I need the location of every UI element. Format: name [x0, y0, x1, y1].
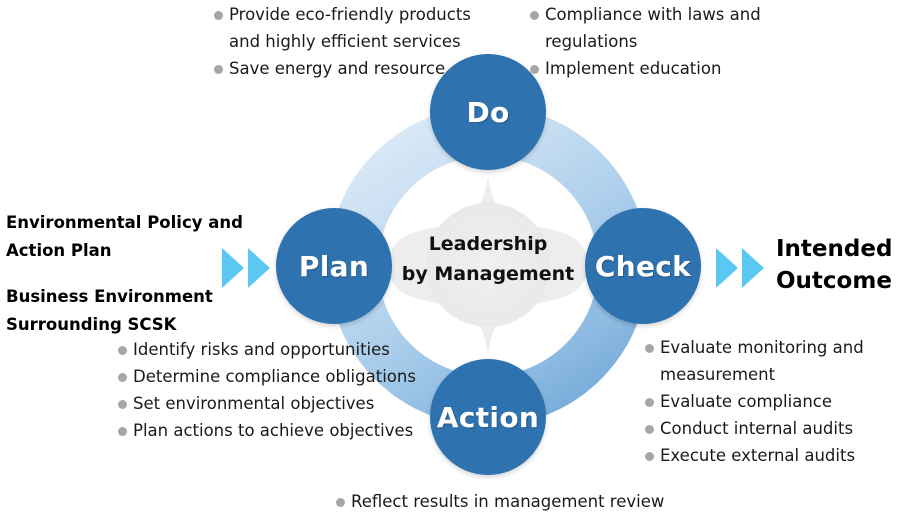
- list-item-label: Determine compliance obligations: [133, 367, 416, 386]
- pdca-diagram-canvas: Leadership by Management Do Check Action…: [0, 0, 897, 528]
- list-compliance-items: Compliance with laws andregulationsImple…: [530, 1, 761, 82]
- output-label-intended-outcome: Intended Outcome: [776, 233, 892, 297]
- list-do-activities: Provide eco-friendly productsand highly …: [214, 1, 471, 82]
- left-label-line3: Business Environment: [6, 283, 243, 311]
- list-item-label: Execute external audits: [660, 446, 855, 465]
- triangle-right-icon: [742, 248, 764, 288]
- bullet-dot-icon: [645, 398, 654, 407]
- right-label-line1: Intended: [776, 236, 892, 262]
- list-item-label: Plan actions to achieve objectives: [133, 421, 413, 440]
- list-item: Evaluate monitoring and: [645, 334, 864, 361]
- bullet-dot-icon: [336, 498, 345, 507]
- list-item: regulations: [530, 28, 761, 55]
- list-item-label: Identify risks and opportunities: [133, 340, 390, 359]
- list-item-label: measurement: [660, 365, 775, 384]
- list-item: Identify risks and opportunities: [118, 336, 416, 363]
- center-label-line2: by Management: [388, 259, 588, 289]
- bullet-dot-icon: [118, 346, 127, 355]
- bullet-dot-icon: [530, 11, 539, 20]
- list-item: Provide eco-friendly products: [214, 1, 471, 28]
- list-item: Plan actions to achieve objectives: [118, 417, 416, 444]
- node-plan[interactable]: Plan: [276, 208, 392, 324]
- list-item: Execute external audits: [645, 442, 864, 469]
- bullet-dot-icon: [645, 344, 654, 353]
- list-item: Evaluate compliance: [645, 388, 864, 415]
- node-do-label: Do: [466, 96, 509, 129]
- list-check-activities: Evaluate monitoring andmeasurementEvalua…: [645, 334, 864, 469]
- list-item: Determine compliance obligations: [118, 363, 416, 390]
- list-item: and highly efficient services: [214, 28, 471, 55]
- triangle-right-icon: [222, 248, 244, 288]
- list-plan-activities: Identify risks and opportunitiesDetermin…: [118, 336, 416, 444]
- list-item: Compliance with laws and: [530, 1, 761, 28]
- list-item-label: Evaluate compliance: [660, 392, 832, 411]
- list-item-label: and highly efficient services: [229, 32, 461, 51]
- right-label-line2: Outcome: [776, 268, 892, 294]
- node-action-label: Action: [437, 401, 539, 434]
- list-item: Set environmental objectives: [118, 390, 416, 417]
- bullet-dot-icon: [214, 11, 223, 20]
- center-leadership-label: Leadership by Management: [388, 229, 588, 289]
- list-action-activities: Reflect results in management review: [336, 488, 664, 515]
- bullet-dot-icon: [645, 452, 654, 461]
- node-check[interactable]: Check: [585, 208, 701, 324]
- list-item: Reflect results in management review: [336, 488, 664, 515]
- list-item-label: Provide eco-friendly products: [229, 5, 471, 24]
- list-item: measurement: [645, 361, 864, 388]
- list-item-label: Conduct internal audits: [660, 419, 853, 438]
- list-item-label: Evaluate monitoring and: [660, 338, 864, 357]
- left-label-line4: Surrounding SCSK: [6, 315, 176, 334]
- node-check-label: Check: [595, 250, 691, 283]
- center-label-line1: Leadership: [388, 229, 588, 259]
- node-action[interactable]: Action: [430, 359, 546, 475]
- list-item-label: regulations: [545, 32, 637, 51]
- list-item-label: Implement education: [545, 59, 721, 78]
- list-item: Implement education: [530, 55, 761, 82]
- bullet-dot-icon: [645, 425, 654, 434]
- list-item-label: Compliance with laws and: [545, 5, 761, 24]
- list-item-label: Set environmental objectives: [133, 394, 374, 413]
- bullet-dot-icon: [118, 427, 127, 436]
- input-label-environmental-policy: Environmental Policy and Action Plan Bus…: [6, 209, 243, 339]
- left-label-line1: Environmental Policy and: [6, 213, 243, 232]
- arrow-right-outflow: [716, 248, 764, 288]
- list-item-label: Save energy and resource: [229, 59, 445, 78]
- node-plan-label: Plan: [299, 250, 369, 283]
- list-item: Conduct internal audits: [645, 415, 864, 442]
- list-item-label: Reflect results in management review: [351, 492, 664, 511]
- bullet-dot-icon: [118, 373, 127, 382]
- bullet-dot-icon: [118, 400, 127, 409]
- bullet-dot-icon: [530, 65, 539, 74]
- triangle-right-icon: [716, 248, 738, 288]
- list-item: Save energy and resource: [214, 55, 471, 82]
- bullet-dot-icon: [214, 65, 223, 74]
- triangle-right-icon: [248, 248, 270, 288]
- arrow-left-inflow: [222, 248, 270, 288]
- left-label-line2: Action Plan: [6, 241, 112, 260]
